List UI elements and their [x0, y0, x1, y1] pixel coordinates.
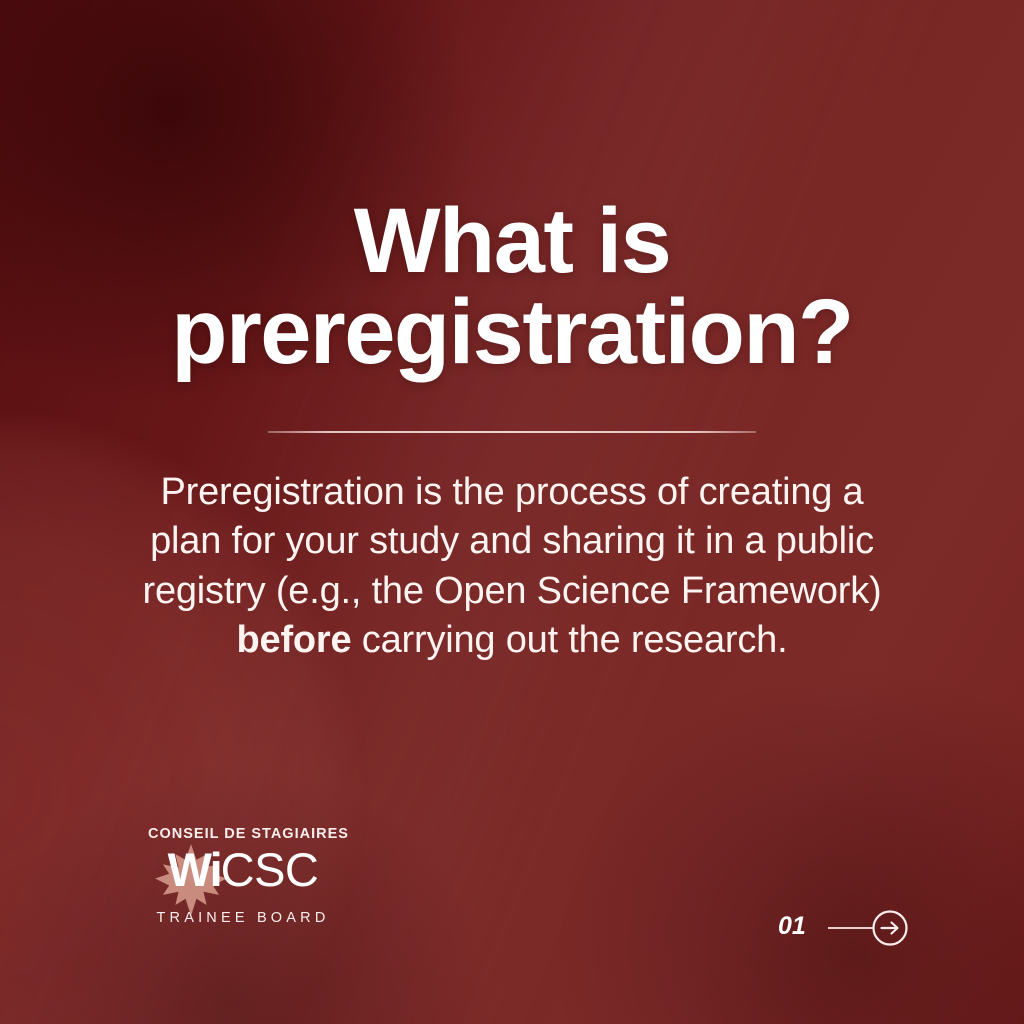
logo-bottom-text: TRAINEE BOARD [148, 910, 338, 926]
body-line-4-rest: carrying out the research. [351, 619, 787, 661]
page-title-line-2: preregistration? [70, 287, 954, 378]
body-line-3: registry (e.g., the Open Science Framewo… [112, 567, 912, 616]
slide-content: What is preregistration? Preregistration… [0, 0, 1024, 1024]
body-paragraph: Preregistration is the process of creati… [112, 468, 912, 666]
wicsc-logo: CONSEIL DE STAGIAIRES WiCSC TRAINEE BOAR… [148, 826, 338, 930]
arrow-right-circle-icon[interactable] [868, 906, 912, 950]
slide-canvas: What is preregistration? Preregistration… [0, 0, 1024, 1024]
logo-wordmark: WiCSC [148, 844, 338, 897]
logo-wordmark-csc: CSC [221, 843, 319, 896]
title-divider [268, 431, 756, 433]
body-line-4: before carrying out the research. [112, 616, 912, 665]
logo-top-text: CONSEIL DE STAGIAIRES [148, 826, 338, 842]
body-line-1: Preregistration is the process of creati… [112, 468, 912, 517]
page-title: What is preregistration? [0, 196, 1024, 378]
page-number: 01 [778, 912, 806, 941]
pager: 01 [778, 906, 908, 950]
logo-wordmark-wi: Wi [168, 843, 221, 896]
body-emphasis-before: before [237, 619, 352, 661]
page-title-line-1: What is [70, 196, 954, 287]
body-line-2: plan for your study and sharing it in a … [112, 517, 912, 566]
